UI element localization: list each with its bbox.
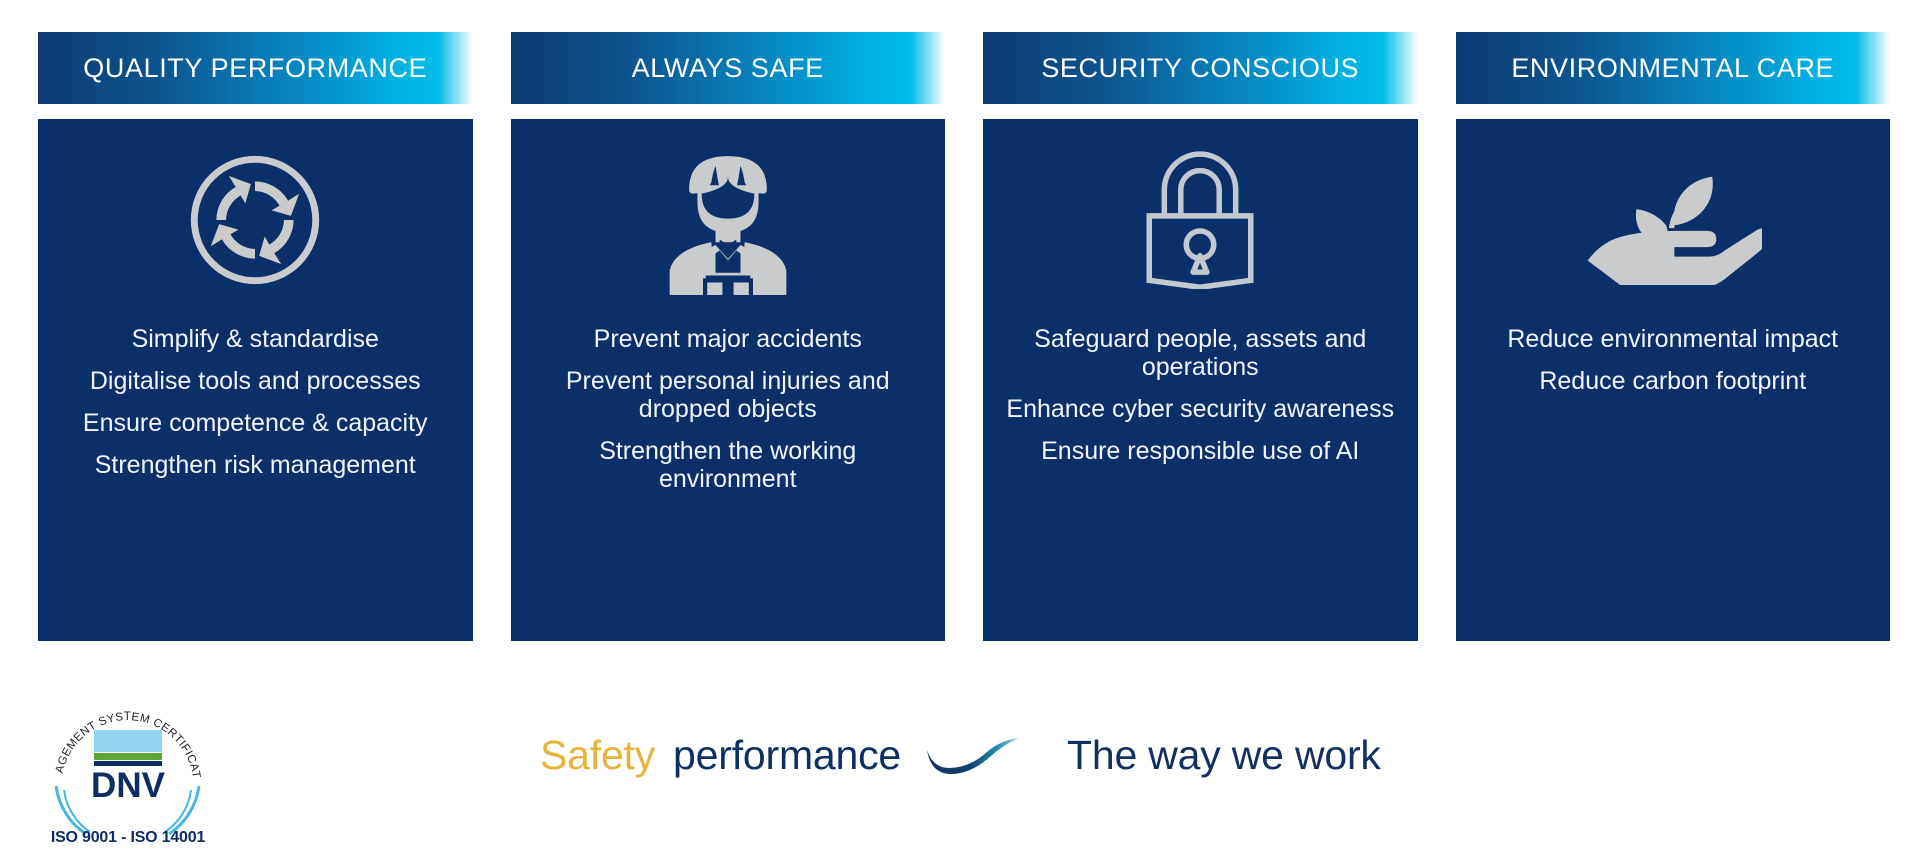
pillar-point: Enhance cyber security awareness (1000, 395, 1400, 423)
iso-standards-text: ISO 9001 - ISO 14001 (51, 829, 206, 846)
dnv-certification-logo: MANAGEMENT SYSTEM CERTIFICATION DNV ISO … (40, 682, 215, 847)
pillar-quality-performance: QUALITY PERFORMANCE (38, 32, 473, 641)
padlock-icon (1141, 145, 1259, 295)
pillar-point: Ensure competence & capacity (77, 409, 434, 437)
tagline-performance-word: performance (673, 732, 901, 779)
tagline-way-we-work-word: The way we work (1067, 732, 1381, 779)
pillar-header-bar: QUALITY PERFORMANCE (38, 32, 473, 104)
pillars-container: QUALITY PERFORMANCE (38, 32, 1890, 641)
pillar-point: Strengthen the working environment (528, 437, 928, 493)
pillar-point: Reduce environmental impact (1501, 325, 1844, 353)
pillar-body: Prevent major accidents Prevent personal… (511, 119, 946, 641)
pillar-body: Simplify & standardise Digitalise tools … (38, 119, 473, 641)
pillar-points-list: Reduce environmental impact Reduce carbo… (1470, 325, 1877, 409)
pillar-title: ENVIRONMENTAL CARE (1511, 53, 1834, 84)
pillar-point: Digitalise tools and processes (84, 367, 427, 395)
pillar-point: Ensure responsible use of AI (1035, 437, 1365, 465)
pillar-points-list: Prevent major accidents Prevent personal… (525, 325, 932, 507)
pillar-title: QUALITY PERFORMANCE (83, 53, 427, 84)
pillar-header-bar: SECURITY CONSCIOUS (983, 32, 1418, 104)
pillar-point: Prevent personal injuries and dropped ob… (528, 367, 928, 423)
pillar-title: ALWAYS SAFE (632, 53, 824, 84)
pillar-body: Reduce environmental impact Reduce carbo… (1456, 119, 1891, 641)
pillar-body: Safeguard people, assets and operations … (983, 119, 1418, 641)
pillar-header-bar: ENVIRONMENTAL CARE (1456, 32, 1891, 104)
dnv-swoosh-icon (925, 734, 1021, 778)
pillar-point: Prevent major accidents (588, 325, 868, 353)
safety-performance-tagline: Safety performance The way we work (540, 732, 1381, 779)
pillar-points-list: Safeguard people, assets and operations … (997, 325, 1404, 479)
circular-arrows-icon (186, 145, 324, 295)
pillar-environmental-care: ENVIRONMENTAL CARE Reduce environmental … (1456, 32, 1891, 641)
pillar-point: Simplify & standardise (126, 325, 385, 353)
pillar-points-list: Simplify & standardise Digitalise tools … (52, 325, 459, 493)
pillar-point: Strengthen risk management (89, 451, 422, 479)
tagline-safety-word: Safety (540, 732, 655, 779)
footer: MANAGEMENT SYSTEM CERTIFICATION DNV ISO … (0, 680, 1920, 850)
pillar-title: SECURITY CONSCIOUS (1041, 53, 1359, 84)
pillar-point: Reduce carbon footprint (1533, 367, 1812, 395)
slide-root: QUALITY PERFORMANCE (0, 0, 1920, 850)
pillar-point: Safeguard people, assets and operations (1000, 325, 1400, 381)
pillar-always-safe: ALWAYS SAFE (511, 32, 946, 641)
pillar-header-bar: ALWAYS SAFE (511, 32, 946, 104)
safety-worker-icon (658, 145, 798, 295)
dnv-wordmark: DNV (91, 766, 166, 805)
pillar-security-conscious: SECURITY CONSCIOUS Safegua (983, 32, 1418, 641)
hand-plant-icon (1584, 145, 1762, 295)
